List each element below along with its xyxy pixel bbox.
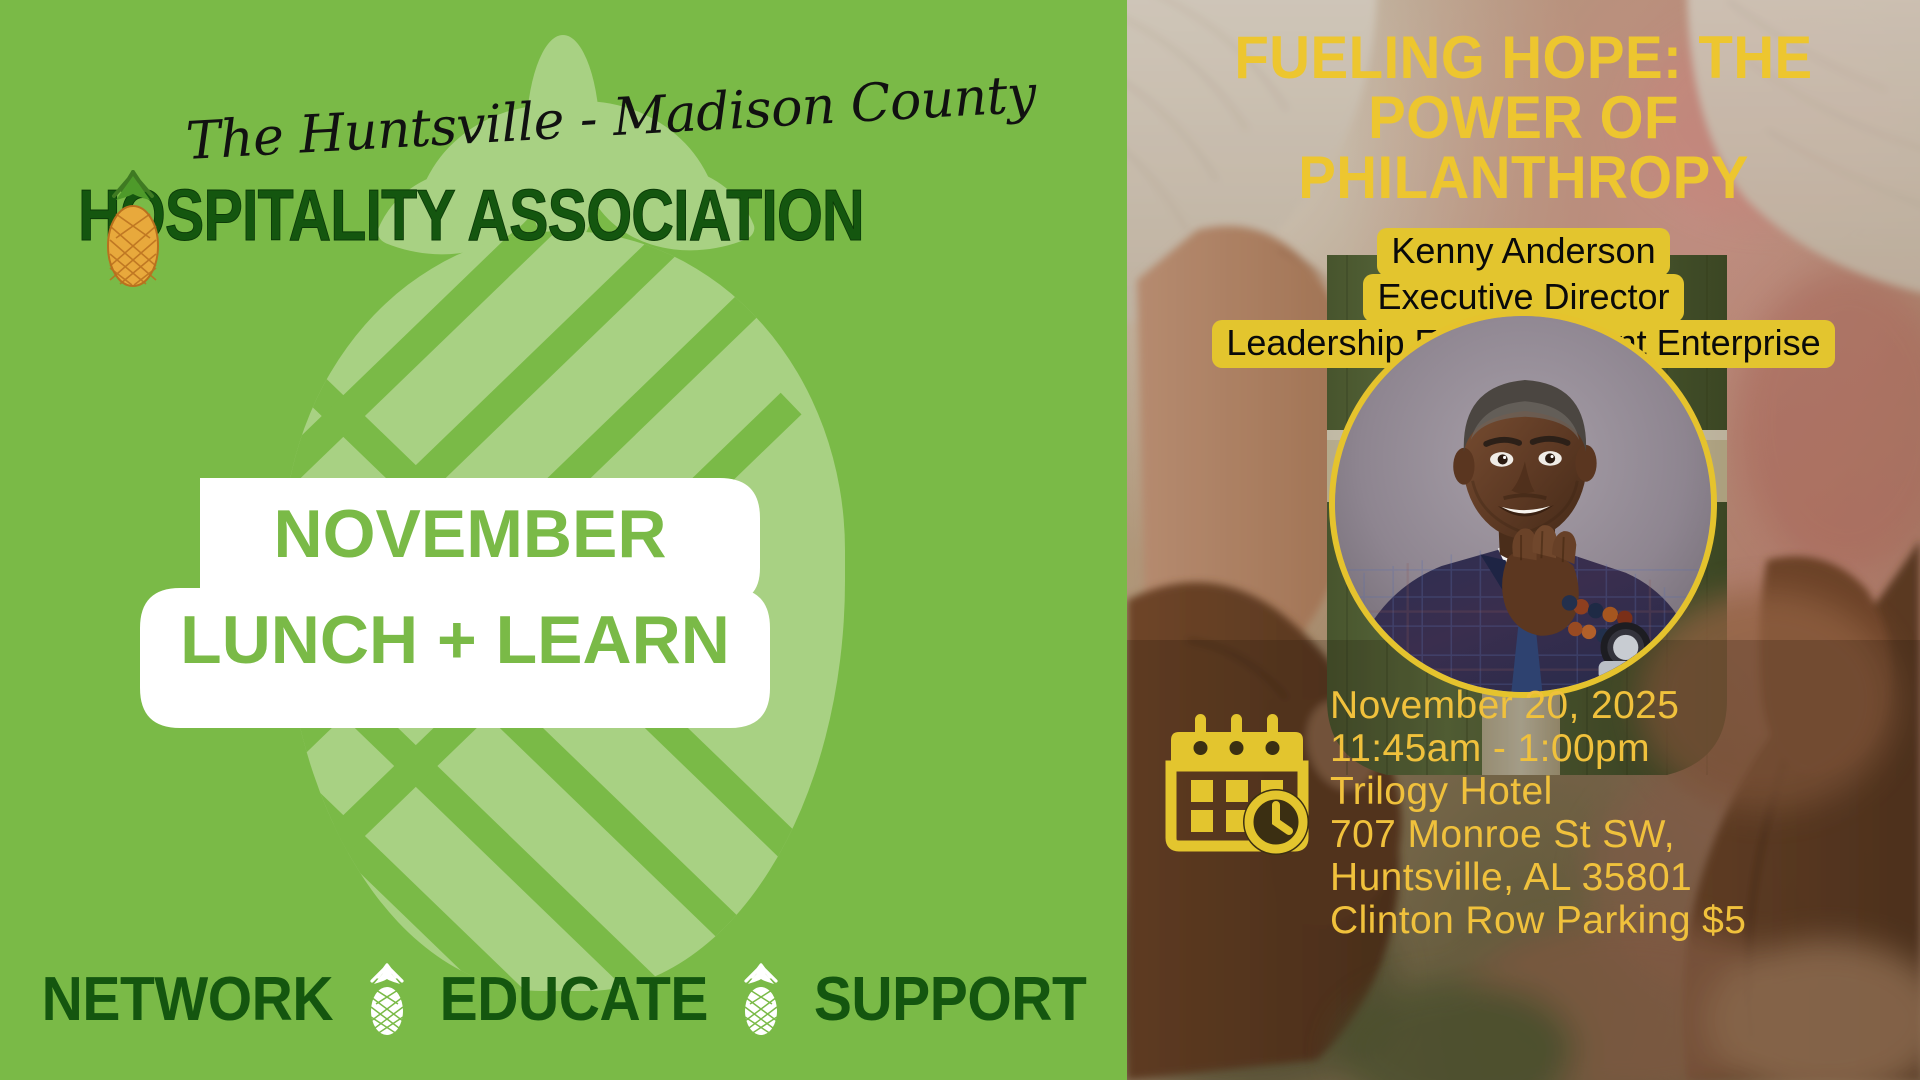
detail-time: 11:45am - 1:00pm [1330, 727, 1920, 770]
event-flyer: The Huntsville - Madison County HOSPITAL… [0, 0, 1920, 1080]
event-title-line-3: PHILANTHROPY [1151, 148, 1896, 208]
logo-main-text: HOSPITALITY ASSOCIATION [78, 180, 701, 252]
tagline-word-educate: EDUCATE [440, 969, 708, 1031]
detail-venue: Trilogy Hotel [1330, 770, 1920, 813]
event-title: FUELING HOPE: THE POWER OF PHILANTHROPY [1151, 28, 1896, 208]
calendar-clock-icon [1163, 710, 1313, 860]
detail-street: 707 Monroe St SW, [1330, 813, 1920, 856]
tagline-word-support: SUPPORT [813, 969, 1086, 1031]
detail-city: Huntsville, AL 35801 [1330, 856, 1920, 899]
pineapple-icon [102, 170, 164, 288]
speaker-portrait [1329, 310, 1717, 698]
event-title-line-1: FUELING HOPE: THE [1151, 28, 1896, 88]
right-event-panel: FUELING HOPE: THE POWER OF PHILANTHROPY … [1127, 0, 1920, 1080]
badge-event-label: LUNCH + LEARN [140, 602, 770, 678]
event-title-line-2: POWER OF [1151, 88, 1896, 148]
pineapple-icon [364, 963, 410, 1037]
detail-date: November 20, 2025 [1330, 684, 1920, 727]
left-brand-panel: The Huntsville - Madison County HOSPITAL… [0, 0, 1127, 1080]
event-details-text: November 20, 2025 11:45am - 1:00pm Trilo… [1330, 684, 1920, 942]
footer-tagline: NETWORK EDUCATE SUPPORT [0, 962, 1127, 1038]
pineapple-icon [738, 963, 784, 1037]
organization-logo: The Huntsville - Madison County HOSPITAL… [78, 112, 838, 292]
event-details-block: November 20, 2025 11:45am - 1:00pm Trilo… [1145, 690, 1920, 1080]
tagline-word-network: NETWORK [42, 969, 333, 1031]
event-month-badge: NOVEMBER LUNCH + LEARN [140, 478, 770, 728]
badge-month-label: NOVEMBER [170, 496, 770, 572]
speaker-name: Kenny Anderson [1377, 228, 1669, 276]
detail-parking: Clinton Row Parking $5 [1330, 899, 1920, 942]
